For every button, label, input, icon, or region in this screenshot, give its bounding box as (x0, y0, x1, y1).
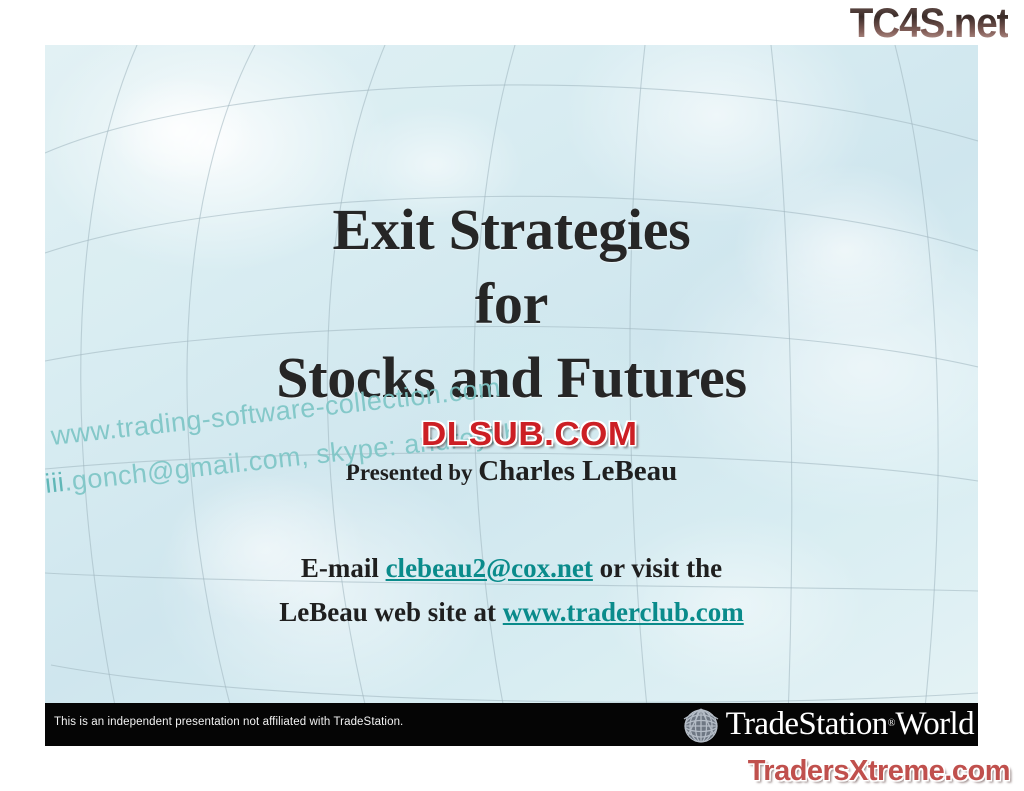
email-link[interactable]: clebeau2@cox.net (386, 553, 593, 583)
brand-wordmark-text: TradeStation (726, 706, 888, 742)
contact-website-line: LeBeau web site at www.traderclub.com (45, 597, 978, 628)
globe-icon (678, 705, 724, 745)
brand-wordmark-suffix: World (895, 706, 974, 742)
slide-footer-bar: This is an independent presentation not … (45, 703, 978, 746)
watermark-dlsub: DLSUB.COM (421, 415, 638, 453)
slide-canvas: Exit Strategies for Stocks and Futures P… (45, 45, 978, 745)
slide-title-line-3: Stocks and Futures (45, 341, 978, 415)
presenter-name: Charles LeBeau (478, 455, 677, 487)
brand-wordmark: TradeStation®World (726, 707, 974, 741)
disclaimer-text: This is an independent presentation not … (54, 716, 403, 728)
website-link[interactable]: www.traderclub.com (503, 597, 744, 627)
tradestationworld-logo: TradeStation®World (678, 703, 974, 746)
watermark-tc4s: TC4S.net (849, 2, 1008, 44)
email-suffix: or visit the (593, 553, 722, 583)
watermark-tradersxtreme: TradersXtreme.com (748, 755, 1010, 787)
slide-title-line-2: for (45, 267, 978, 341)
website-label: LeBeau web site at (279, 597, 502, 627)
slide-title-line-1: Exit Strategies (45, 193, 978, 267)
email-label: E-mail (301, 553, 386, 583)
contact-email-line: E-mail clebeau2@cox.net or visit the (45, 553, 978, 584)
presentation-page: Exit Strategies for Stocks and Futures P… (0, 0, 1024, 791)
slide-content: Exit Strategies for Stocks and Futures P… (45, 45, 978, 745)
